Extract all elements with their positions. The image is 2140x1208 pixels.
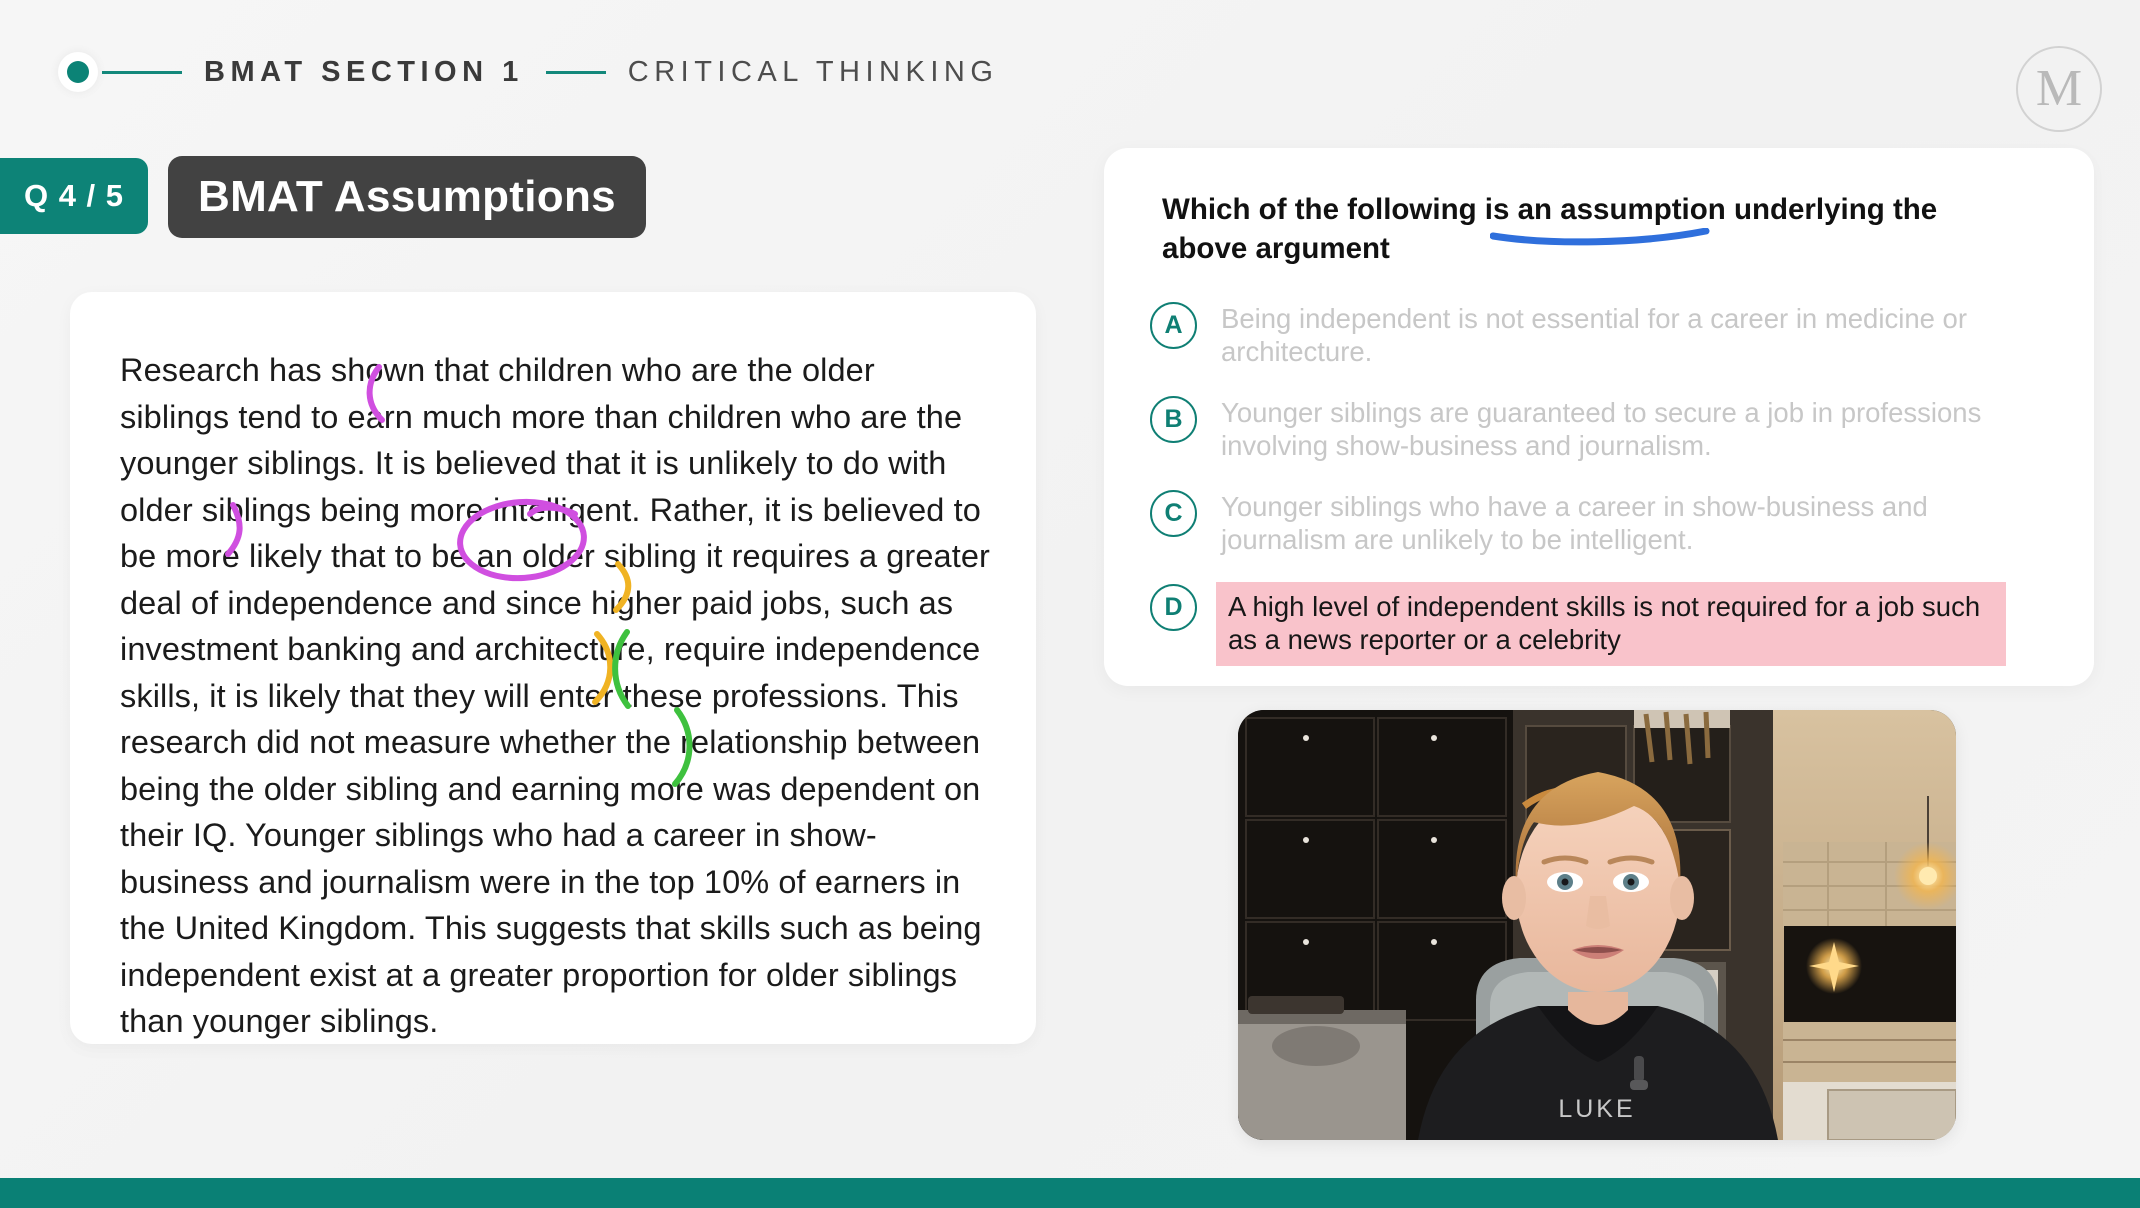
brand-logo-icon: M xyxy=(2016,46,2102,132)
breadcrumb: BMAT SECTION 1 CRITICAL THINKING xyxy=(58,52,998,92)
breadcrumb-divider-2 xyxy=(546,71,606,74)
answer-option-c[interactable]: C Younger siblings who have a career in … xyxy=(1150,488,2050,560)
breadcrumb-section: BMAT SECTION 1 xyxy=(204,56,524,89)
answer-option-b[interactable]: B Younger siblings are guaranteed to sec… xyxy=(1150,394,2050,466)
option-letter-a: A xyxy=(1150,302,1197,349)
option-letter-c: C xyxy=(1150,490,1197,537)
stem-underline-annotation xyxy=(1490,228,1710,248)
option-letter-b: B xyxy=(1150,396,1197,443)
passage-card: Research has shown that children who are… xyxy=(70,292,1036,1044)
brand-logo-letter: M xyxy=(2036,63,2082,115)
video-frame xyxy=(1238,710,1956,1140)
presenter-name-label: LUKE xyxy=(1238,1095,1956,1124)
question-counter-badge: Q 4 / 5 xyxy=(0,158,148,234)
breadcrumb-divider-1 xyxy=(102,71,182,74)
app-root: BMAT SECTION 1 CRITICAL THINKING M Q 4 /… xyxy=(0,0,2140,1208)
option-text-c: Younger siblings who have a career in sh… xyxy=(1221,488,2050,560)
breadcrumb-topic: CRITICAL THINKING xyxy=(628,56,999,89)
progress-dot-icon xyxy=(58,52,98,92)
option-text-d: A high level of independent skills is no… xyxy=(1216,582,2006,666)
option-text-b: Younger siblings are guaranteed to secur… xyxy=(1221,394,2050,466)
footer-bar xyxy=(0,1178,2140,1208)
presenter-video[interactable]: LUKE xyxy=(1238,710,1956,1140)
answer-options-list: A Being independent is not essential for… xyxy=(1150,300,2050,688)
answer-option-a[interactable]: A Being independent is not essential for… xyxy=(1150,300,2050,372)
option-text-a: Being independent is not essential for a… xyxy=(1221,300,2050,372)
page-title: BMAT Assumptions xyxy=(168,156,646,238)
passage-text: Research has shown that children who are… xyxy=(120,347,992,1044)
option-letter-d: D xyxy=(1150,584,1197,631)
answer-option-d[interactable]: D A high level of independent skills is … xyxy=(1150,582,2050,666)
